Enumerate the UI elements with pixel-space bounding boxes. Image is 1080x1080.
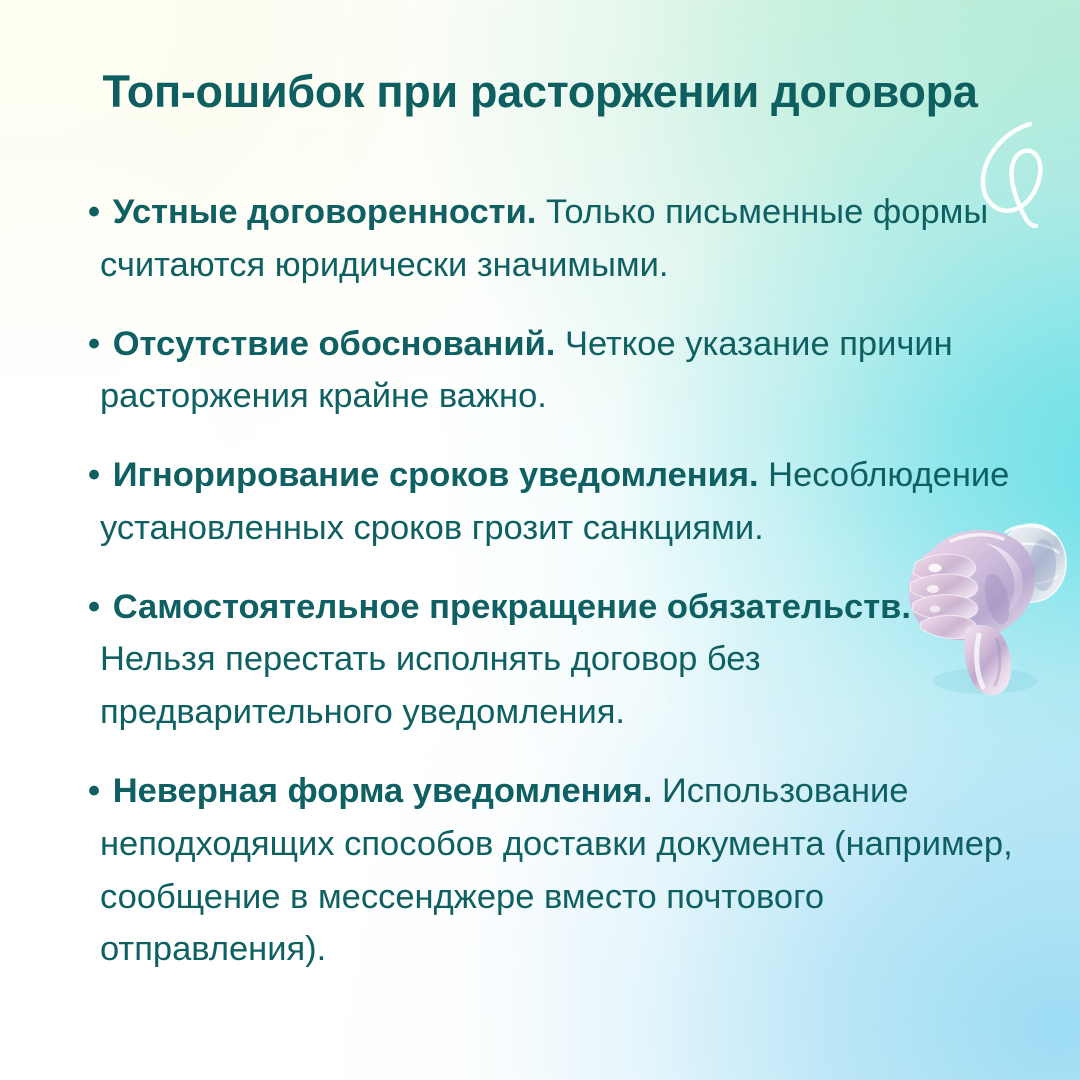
list-item-lead: Игнорирование сроков уведомления. — [113, 456, 759, 494]
cursive-loop-squiggle-icon — [968, 118, 1072, 230]
list-item-body: Нельзя перестать исполнять договор без п… — [100, 640, 761, 731]
list-item: • Самостоятельное прекращение обязательс… — [88, 581, 1018, 739]
list-item-lead: Неверная форма уведомления. — [113, 772, 653, 810]
list-item-lead: Отсутствие обоснований. — [113, 325, 556, 363]
social-media-card: Топ-ошибок при расторжении договора • Ус… — [0, 0, 1080, 1080]
bullet-marker-icon: • — [88, 772, 103, 810]
bullet-marker-icon: • — [88, 588, 103, 626]
list-item: • Игнорирование сроков уведомления. Несо… — [88, 449, 1018, 555]
list-item: • Неверная форма уведомления. Использова… — [88, 765, 1018, 976]
list-item: • Отсутствие обоснований. Четкое указани… — [88, 318, 1018, 424]
bullet-marker-icon: • — [88, 193, 103, 231]
bullet-marker-icon: • — [88, 456, 103, 494]
page-title: Топ-ошибок при расторжении договора — [0, 66, 1080, 118]
mistakes-list: • Устные договоренности. Только письменн… — [88, 186, 1018, 976]
card-content: Топ-ошибок при расторжении договора • Ус… — [0, 0, 1080, 1080]
thumbs-down-hand-icon — [893, 503, 1078, 708]
list-item-lead: Устные договоренности. — [113, 193, 537, 231]
list-item: • Устные договоренности. Только письменн… — [88, 186, 1018, 292]
list-item-lead: Самостоятельное прекращение обязательств… — [113, 588, 911, 626]
bullet-marker-icon: • — [88, 325, 103, 363]
